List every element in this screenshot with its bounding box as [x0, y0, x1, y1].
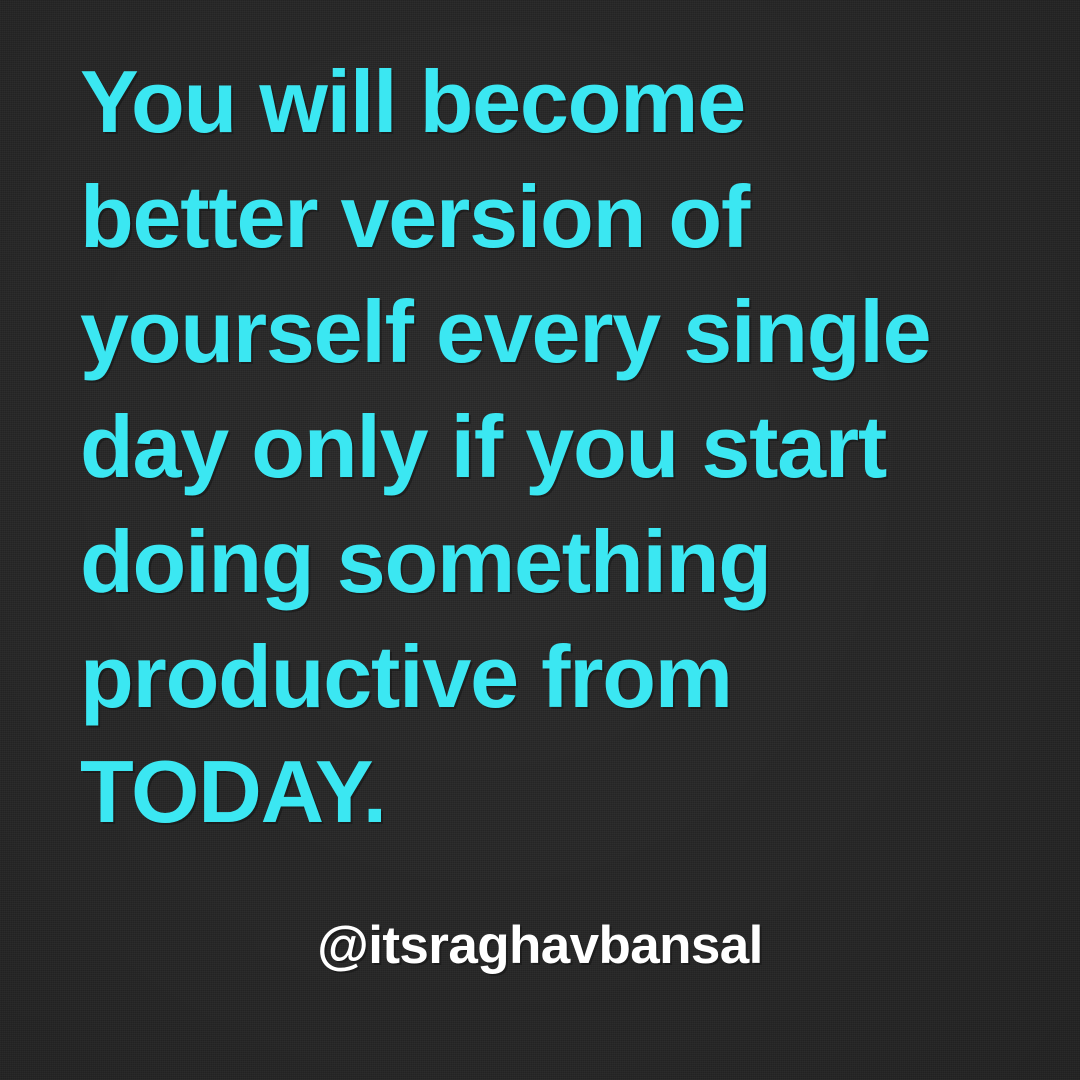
quote-line: yourself every single	[80, 274, 1020, 389]
quote-card: You will become better version of yourse…	[0, 0, 1080, 1080]
quote-text-block: You will become better version of yourse…	[80, 44, 1020, 849]
attribution-area: @itsraghavbansal	[0, 915, 1080, 977]
quote-line: day only if you start	[80, 389, 1020, 504]
author-handle: @itsraghavbansal	[317, 915, 763, 977]
quote-line: You will become	[80, 44, 1020, 159]
quote-line: better version of	[80, 159, 1020, 274]
quote-line: productive from	[80, 619, 1020, 734]
quote-line: doing something	[80, 504, 1020, 619]
quote-line: TODAY.	[80, 734, 1020, 849]
